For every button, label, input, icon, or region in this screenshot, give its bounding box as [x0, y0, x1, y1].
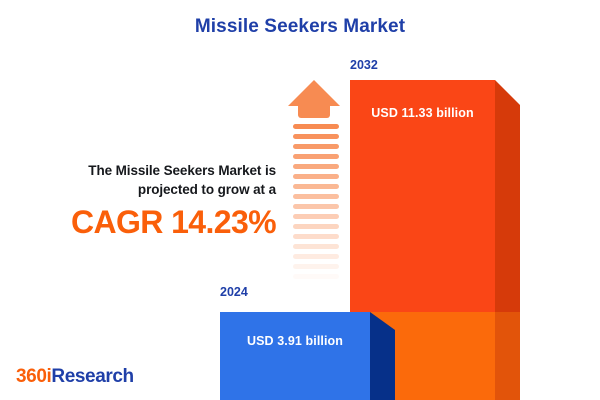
bar-2024-value-label: USD 3.91 billion — [220, 334, 370, 348]
arrow-head-neck — [298, 105, 330, 118]
arrow-stripe — [293, 164, 339, 169]
arrow-head-triangle — [288, 80, 340, 106]
arrow-stripe — [293, 184, 339, 189]
arrow-head — [288, 80, 340, 114]
arrow-stripes — [293, 124, 339, 290]
company-logo: 360iResearch — [16, 366, 134, 388]
arrow-stripe — [293, 174, 339, 179]
bar-2024-front-face — [220, 312, 370, 400]
arrow-stripe — [293, 134, 339, 139]
arrow-stripe — [293, 214, 339, 219]
arrow-stripe — [293, 144, 339, 149]
bar-year-label-2024: 2024 — [220, 285, 248, 299]
arrow-stripe — [293, 224, 339, 229]
statement-text: The Missile Seekers Market is projected … — [18, 162, 276, 199]
arrow-stripe — [293, 234, 339, 239]
arrow-stripe — [293, 274, 339, 279]
arrow-stripe — [293, 124, 339, 129]
cagr-value: CAGR 14.23% — [18, 206, 276, 240]
logo-research: Research — [51, 366, 133, 387]
infographic-canvas: Missile Seekers Market The Missile Seeke… — [0, 0, 600, 400]
arrow-stripe — [293, 194, 339, 199]
arrow-stripe — [293, 264, 339, 269]
logo-360i: 360i — [16, 366, 51, 387]
bar-year-label-2032: 2032 — [350, 58, 378, 72]
up-arrow-icon — [288, 80, 340, 290]
arrow-stripe — [293, 254, 339, 259]
bar-2024-side-face — [370, 312, 395, 400]
page-title: Missile Seekers Market — [0, 16, 600, 38]
arrow-stripe — [293, 244, 339, 249]
arrow-stripe — [293, 154, 339, 159]
statement-line-1: The Missile Seekers Market is — [88, 163, 276, 178]
bar-2032-value-label: USD 11.33 billion — [350, 106, 495, 120]
statement-line-2: projected to grow at a — [138, 182, 276, 197]
arrow-stripe — [293, 204, 339, 209]
statement-block: The Missile Seekers Market is projected … — [18, 162, 276, 240]
bar-2032-overlap-side — [495, 312, 520, 400]
bar-2024: USD 3.91 billion — [220, 312, 395, 400]
